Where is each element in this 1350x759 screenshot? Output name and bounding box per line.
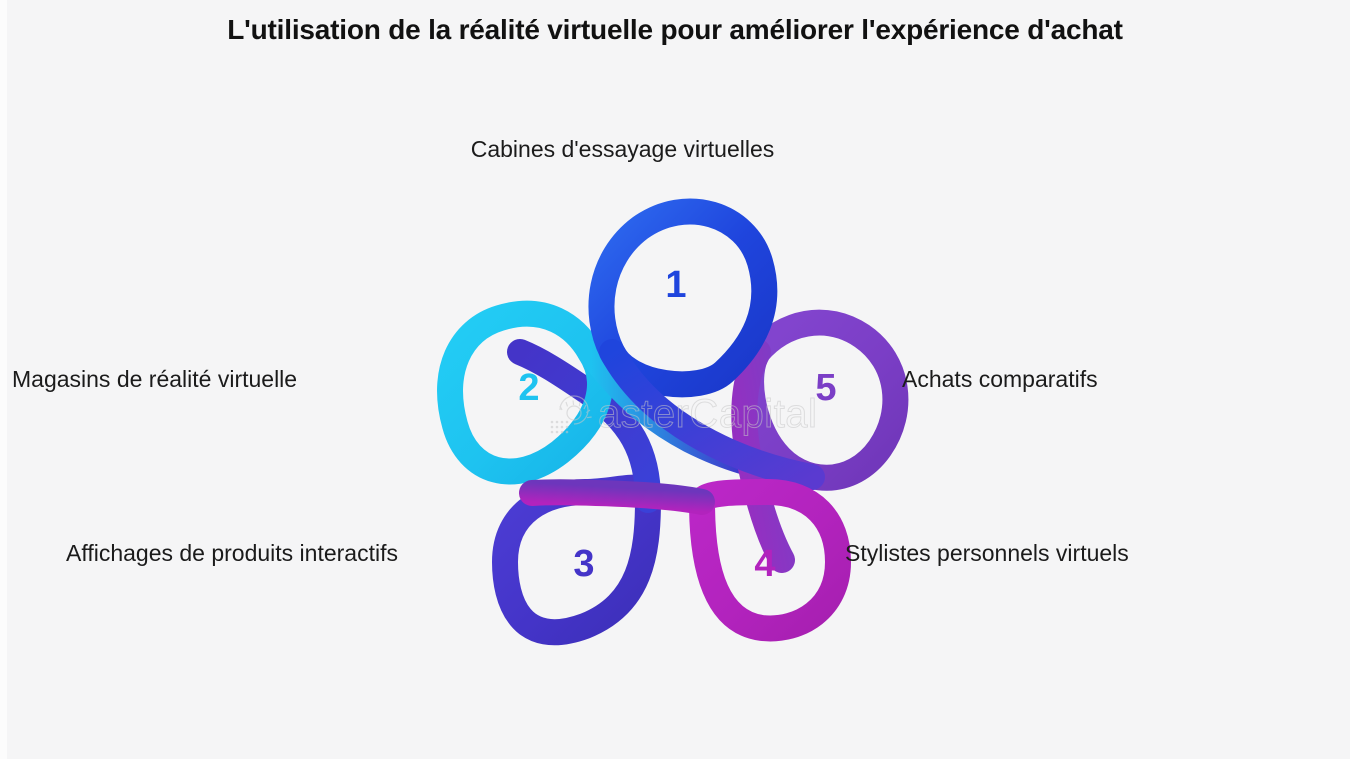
- node-label-5: Achats comparatifs: [902, 366, 1098, 393]
- loop-number-2: 2: [518, 367, 539, 409]
- node-label-1: Cabines d'essayage virtuelles: [0, 136, 1245, 163]
- node-label-3: Affichages de produits interactifs: [66, 540, 398, 567]
- node-label-4: Stylistes personnels virtuels: [845, 540, 1129, 567]
- loop-number-5: 5: [815, 367, 836, 409]
- loop-number-4: 4: [754, 543, 775, 585]
- page-title: L'utilisation de la réalité virtuelle po…: [0, 14, 1350, 46]
- node-label-2: Magasins de réalité virtuelle: [12, 366, 297, 393]
- infographic-canvas: L'utilisation de la réalité virtuelle po…: [0, 0, 1350, 759]
- loop-number-1: 1: [665, 264, 686, 306]
- left-edge-strip: [0, 0, 7, 759]
- loop-number-3: 3: [573, 543, 594, 585]
